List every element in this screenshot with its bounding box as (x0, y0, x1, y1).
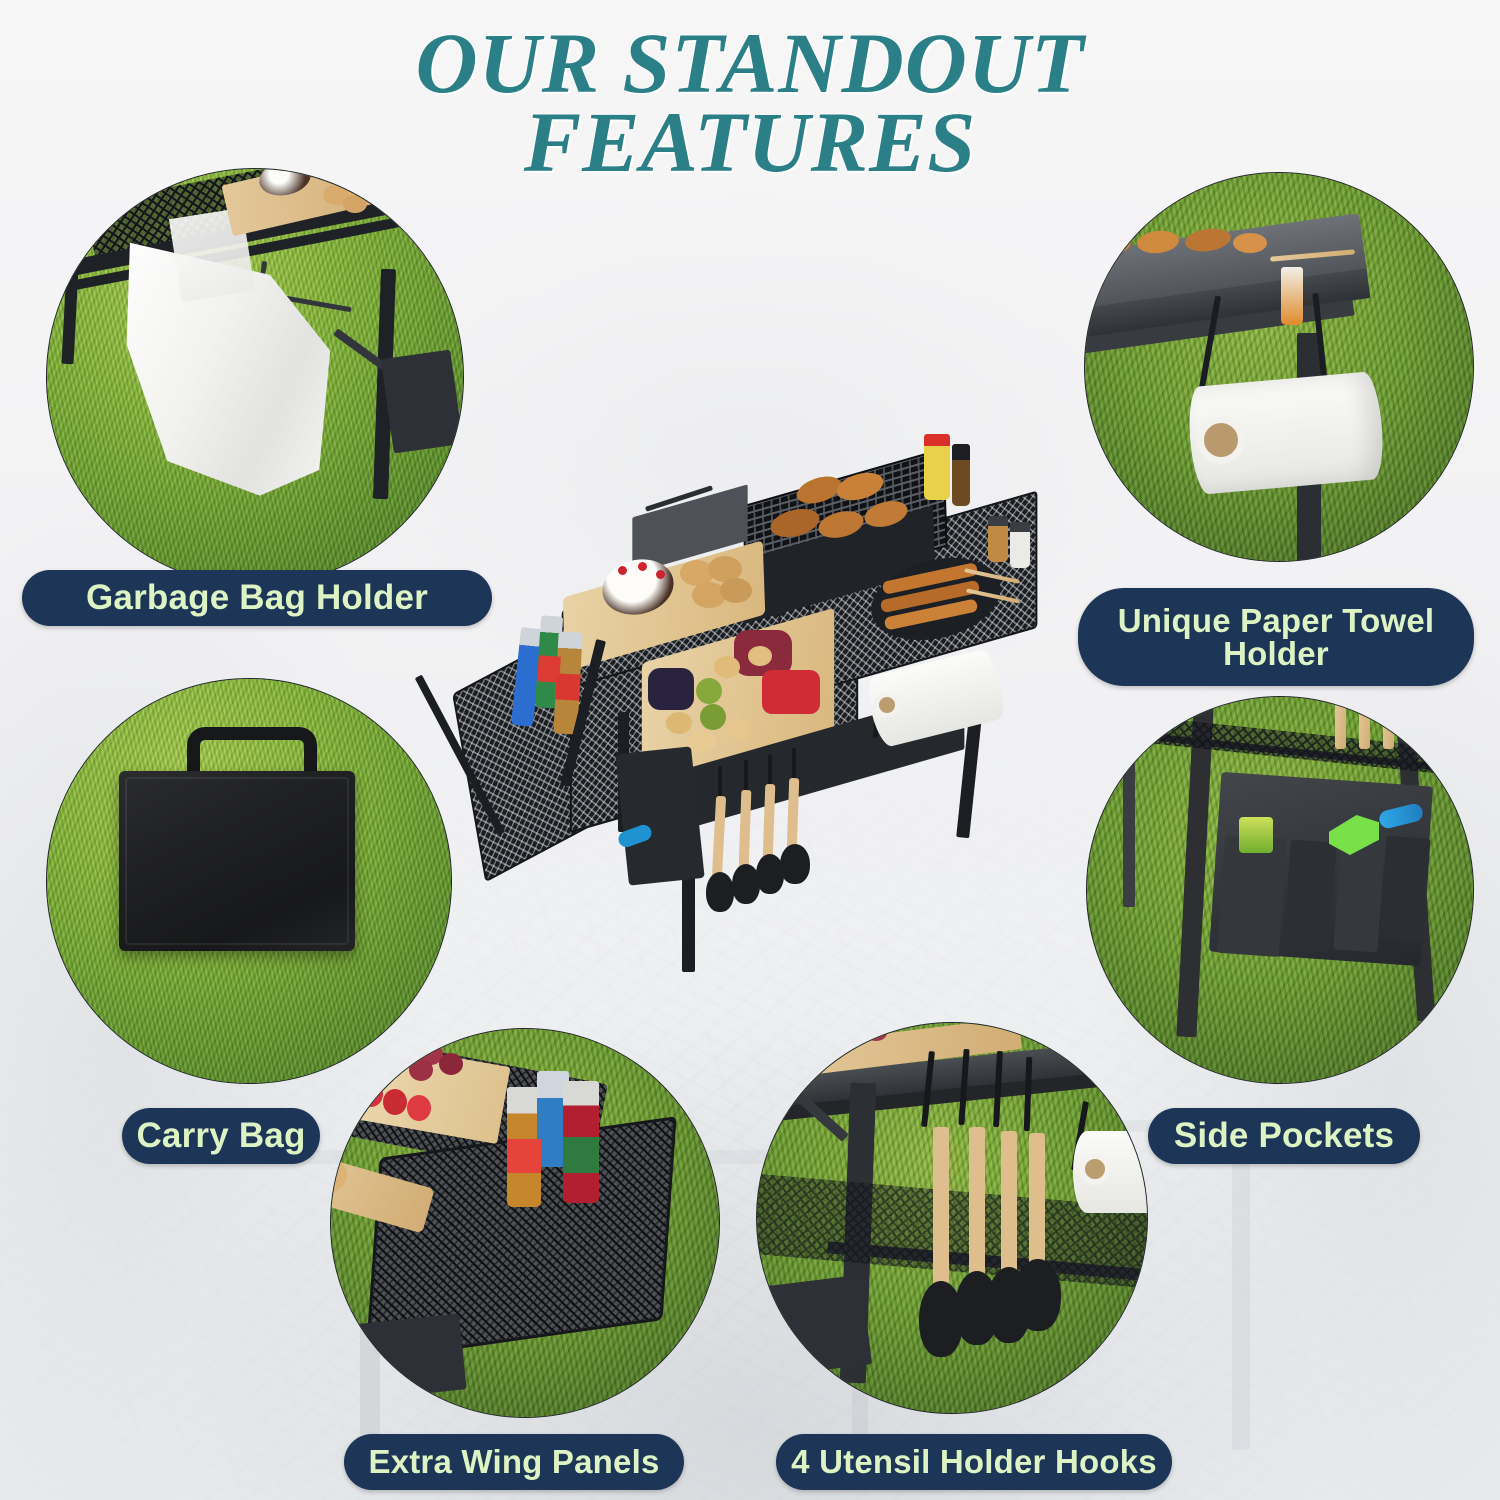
blueberries (648, 668, 694, 710)
crackers (726, 718, 752, 740)
bottle-label (563, 1137, 599, 1173)
salt-shaker (1010, 522, 1030, 568)
feature-photo-garbage-bag-holder (46, 168, 464, 586)
condiment-bottle (952, 444, 970, 506)
strawberries (762, 670, 820, 714)
feature-photo-carry-bag (46, 678, 452, 1084)
kiwi (696, 678, 722, 704)
s-hook (718, 766, 722, 800)
kiwi (700, 704, 726, 730)
mustard-bottle (924, 434, 950, 500)
feature-photo-utensil-holder-hooks (756, 1022, 1148, 1414)
cookie (720, 578, 752, 603)
strawberry (383, 1089, 407, 1115)
grapes (439, 1053, 463, 1075)
side-pocket (381, 350, 464, 454)
condiment-bottle (1281, 267, 1303, 325)
grapes (397, 1035, 421, 1057)
utensil-handle (1029, 1133, 1045, 1265)
feature-label-side-pockets[interactable]: Side Pockets (1148, 1108, 1420, 1164)
utensil-handle (933, 1127, 949, 1287)
cake-cherry (618, 566, 627, 575)
spice-shaker (988, 516, 1008, 562)
strawberry (359, 1081, 383, 1107)
crackers (666, 712, 692, 734)
grapes (865, 1025, 887, 1041)
utensil-handle (763, 784, 776, 860)
utensil-handle (969, 1127, 985, 1277)
bottle-label (555, 673, 580, 700)
utensil-handle (1335, 697, 1346, 749)
table-leg-rear (1123, 757, 1135, 907)
utensil-handle (787, 778, 800, 850)
utensil-head-ladle (780, 844, 810, 884)
paper-towel-roll-core (1079, 1153, 1111, 1185)
s-hook (792, 748, 796, 782)
utensil-head-ladle (1015, 1259, 1061, 1331)
grapes (841, 1023, 865, 1041)
strawberry (407, 1095, 431, 1121)
feature-label-paper-towel-holder[interactable]: Unique Paper Towel Holder (1078, 588, 1474, 686)
s-hook (744, 760, 748, 794)
feature-label-garbage-bag-holder[interactable]: Garbage Bag Holder (22, 570, 492, 626)
hero-product-image (452, 430, 1052, 990)
feature-photo-paper-towel-holder (1084, 172, 1474, 562)
side-pocket-compartment (1283, 840, 1337, 953)
page-title: OUR STANDOUT FEATURES (0, 24, 1500, 182)
bottle-label (507, 1139, 541, 1173)
page-title-line-2: FEATURES (0, 103, 1500, 182)
background-ghost-leg (1232, 1120, 1250, 1450)
utensil-handle (1001, 1131, 1017, 1273)
carry-bag-seam (125, 777, 349, 945)
cake-cherry (638, 562, 647, 571)
s-hook (768, 754, 772, 788)
cookie (343, 195, 367, 213)
feature-label-carry-bag[interactable]: Carry Bag (122, 1108, 320, 1164)
side-pocket-compartment (1379, 836, 1430, 943)
cake-cherry (656, 570, 665, 579)
crackers (748, 646, 772, 666)
under-table-pocket (349, 1313, 466, 1400)
utensil-handle (1383, 701, 1394, 749)
utensil-head-spoon (706, 872, 734, 912)
feature-photo-extra-wing-panels (330, 1028, 720, 1418)
grapes (409, 1059, 433, 1081)
under-table-pocket (615, 746, 704, 885)
feature-label-extra-wing-panels[interactable]: Extra Wing Panels (344, 1434, 684, 1490)
crackers (688, 730, 716, 752)
grilled-food (1233, 233, 1267, 253)
green-can (1239, 817, 1273, 853)
crackers (714, 656, 740, 678)
utensil-handle (1359, 699, 1370, 749)
under-table-pocket (756, 1275, 872, 1378)
side-pocket-compartment (1333, 842, 1384, 953)
utensil-handle (739, 790, 752, 870)
side-pocket-compartment (1217, 835, 1287, 957)
feature-label-utensil-holder-hooks[interactable]: 4 Utensil Holder Hooks (776, 1434, 1172, 1490)
